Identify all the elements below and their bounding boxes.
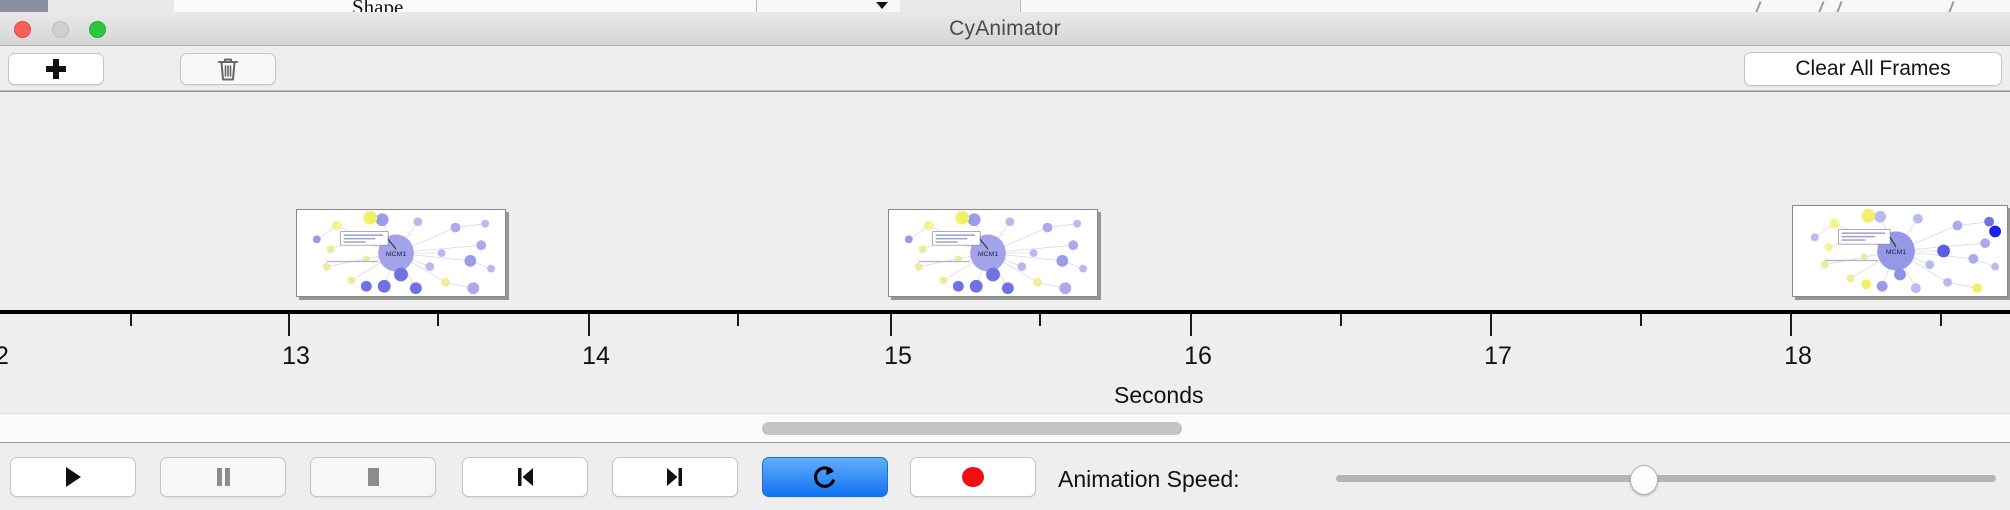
animation-speed-slider[interactable] bbox=[1336, 475, 1996, 482]
bg-chip bbox=[576, 0, 757, 12]
axis-tick-major bbox=[890, 314, 892, 336]
axis-tick-major bbox=[588, 314, 590, 336]
pause-button[interactable] bbox=[160, 457, 286, 497]
delete-frame-button[interactable] bbox=[180, 53, 276, 85]
axis-tick-minor bbox=[1940, 314, 1942, 326]
animation-speed-slider-knob[interactable] bbox=[1630, 465, 1658, 495]
loop-icon bbox=[812, 464, 838, 490]
record-button[interactable] bbox=[910, 457, 1036, 497]
stop-button[interactable] bbox=[310, 457, 436, 497]
axis-tick-label: 13 bbox=[282, 342, 310, 371]
bg-chip bbox=[110, 0, 175, 12]
window-title: CyAnimator bbox=[0, 12, 2010, 46]
play-button[interactable] bbox=[10, 457, 136, 497]
scrollbar-thumb[interactable] bbox=[762, 422, 1182, 435]
svg-text:MCM1: MCM1 bbox=[386, 251, 407, 258]
axis-tick-minor bbox=[737, 314, 739, 326]
skip-end-icon bbox=[663, 465, 687, 489]
network-thumbnail: MCM1 bbox=[1793, 206, 2007, 296]
network-thumbnail: MCM1 bbox=[297, 210, 505, 296]
axis-tick-minor bbox=[1640, 314, 1642, 326]
axis-tick-label: 17 bbox=[1484, 342, 1512, 371]
axis-tick-minor bbox=[130, 314, 132, 326]
animation-speed-label: Animation Speed: bbox=[1058, 466, 1240, 493]
axis-tick-major bbox=[1790, 314, 1792, 336]
axis-tick-label: 15 bbox=[884, 342, 912, 371]
bg-chip bbox=[0, 0, 49, 12]
axis-tick-minor bbox=[437, 314, 439, 326]
axis-tick-major bbox=[1490, 314, 1492, 336]
bg-chip bbox=[436, 0, 577, 12]
skip-to-start-button[interactable] bbox=[462, 457, 588, 497]
axis-title: Seconds bbox=[1114, 382, 1204, 409]
plus-icon bbox=[46, 59, 66, 79]
timeline-frame[interactable]: MCM1 bbox=[296, 209, 506, 297]
timeline-frame[interactable]: MCM1 bbox=[1792, 205, 2008, 297]
play-icon bbox=[62, 465, 84, 489]
skip-to-end-button[interactable] bbox=[612, 457, 738, 497]
network-thumbnail: MCM1 bbox=[889, 210, 1097, 296]
axis-tick-major bbox=[1190, 314, 1192, 336]
axis-tick-label: 18 bbox=[1784, 342, 1812, 371]
loop-button[interactable] bbox=[762, 457, 888, 497]
axis-tick-label: 2 bbox=[0, 342, 9, 371]
toolbar: Clear All Frames bbox=[0, 46, 2010, 91]
title-bar[interactable]: CyAnimator bbox=[0, 12, 2010, 46]
timeline-scrollbar[interactable] bbox=[0, 413, 2010, 443]
bg-chip bbox=[222, 0, 327, 12]
stop-icon bbox=[362, 465, 384, 489]
axis-tick-major bbox=[288, 314, 290, 336]
bg-chip bbox=[174, 0, 223, 12]
axis-tick-minor bbox=[1340, 314, 1342, 326]
bg-chip bbox=[960, 0, 1021, 12]
trash-icon bbox=[216, 56, 240, 82]
svg-text:MCM1: MCM1 bbox=[978, 251, 999, 258]
pause-icon bbox=[212, 465, 234, 489]
axis-tick-label: 14 bbox=[582, 342, 610, 371]
timeline-frame[interactable]: MCM1 bbox=[888, 209, 1098, 297]
cyanimator-window: Shape CyAnimator Clear All Frames bbox=[0, 0, 2010, 510]
timeline-axis bbox=[0, 310, 2010, 314]
skip-start-icon bbox=[513, 465, 537, 489]
timeline-panel[interactable]: MCM1 bbox=[0, 91, 2010, 413]
clear-all-frames-label: Clear All Frames bbox=[1795, 57, 1950, 81]
axis-tick-label: 16 bbox=[1184, 342, 1212, 371]
add-frame-button[interactable] bbox=[8, 53, 104, 85]
axis-tick-minor bbox=[1039, 314, 1041, 326]
bg-chip bbox=[900, 0, 961, 12]
bg-chip bbox=[48, 0, 111, 12]
record-icon bbox=[960, 464, 986, 490]
caret-icon bbox=[876, 2, 888, 9]
svg-text:MCM1: MCM1 bbox=[1886, 249, 1907, 256]
clear-all-frames-button[interactable]: Clear All Frames bbox=[1744, 52, 2002, 86]
playback-controls: Animation Speed: bbox=[0, 444, 2010, 510]
